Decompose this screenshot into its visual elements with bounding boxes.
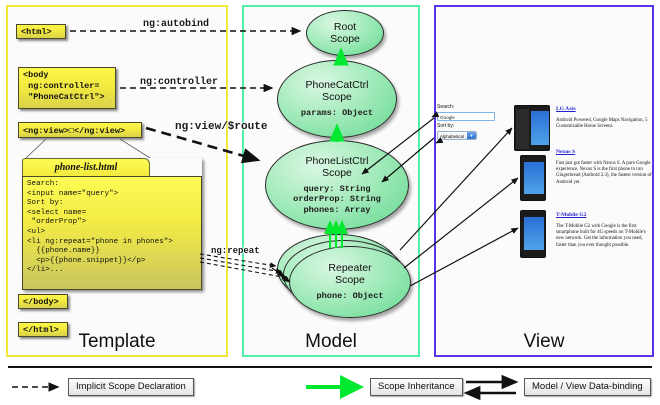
phonelistctrl-scope-props: query: String orderProp: String phones: …: [293, 184, 381, 216]
phone-name-2[interactable]: T-Mobile G2: [556, 212, 586, 218]
ng-autobind-label: ng:autobind: [143, 19, 209, 30]
search-input[interactable]: Google: [437, 112, 495, 121]
phonelistctrl-scope-title: PhoneListCtrl Scope: [305, 155, 368, 179]
phone-list-note-title: phone-list.html: [22, 158, 150, 177]
phonecatctrl-scope-title: PhoneCatCtrl Scope: [305, 79, 368, 103]
search-label: Search:: [437, 104, 454, 110]
legend: Implicit Scope Declaration Scope Inherit…: [0, 364, 660, 405]
root-scope-title: Root Scope: [330, 21, 360, 45]
phone-snippet-1: Fast just got faster with Nexus S. A pur…: [556, 161, 652, 186]
phone-snippet-2: The T-Mobile G2 with Google is the first…: [556, 224, 652, 249]
phone-image-nexus-s: [520, 155, 546, 201]
phone-snippet-0: Android Powered, Google Maps Navigation,…: [556, 118, 652, 130]
ng-view-route-label: ng:view/$route: [175, 121, 267, 133]
repeater-scope: Repeater Scope phone: Object: [289, 246, 411, 318]
sort-select-value: Alphabetical: [440, 134, 464, 139]
phonelistctrl-scope: PhoneListCtrl Scope query: String orderP…: [265, 140, 409, 230]
html-open-tag: <html>: [16, 24, 66, 39]
chevron-down-icon: ▾: [467, 132, 476, 139]
column-label-view: View: [436, 331, 652, 353]
body-open-tag: <body ng:controller= "PhoneCatCtrl">: [18, 67, 116, 109]
html-close-tag: </html>: [18, 322, 68, 337]
phone-name-0[interactable]: LG Axis: [556, 106, 576, 112]
diagram-canvas: Template Model View <html> <body ng:cont…: [0, 0, 660, 405]
legend-label-scope-inheritance: Scope Inheritance: [370, 378, 463, 396]
legend-divider: [8, 366, 652, 368]
phone-list-note-code: Search: <input name="query"> Sort by: <s…: [22, 176, 202, 290]
legend-label-model-view-data-binding: Model / View Data-binding: [524, 378, 651, 396]
body-close-tag: </body>: [18, 294, 68, 309]
phonecatctrl-scope: PhoneCatCtrl Scope params: Object: [277, 60, 397, 138]
phone-image-lg-axis: [514, 105, 550, 151]
phonecatctrl-scope-props: params: Object: [301, 108, 373, 119]
ng-controller-label: ng:controller: [140, 77, 218, 88]
repeater-scope-props: phone: Object: [316, 291, 383, 302]
sort-select[interactable]: Alphabetical ▾: [437, 131, 477, 140]
phone-list-template-note: phone-list.html Search: <input name="que…: [22, 158, 202, 290]
legend-label-implicit-scope-declaration: Implicit Scope Declaration: [68, 378, 194, 396]
phone-image-t-mobile-g2: [520, 210, 546, 258]
sort-label: Sort by:: [437, 123, 454, 129]
ng-view-tag: <ng:view>□</ng:view>: [18, 122, 142, 138]
repeater-scope-title: Repeater Scope: [328, 262, 371, 286]
column-label-model: Model: [244, 331, 418, 353]
root-scope: Root Scope: [306, 10, 384, 56]
ng-repeat-label: ng:repeat: [211, 246, 260, 256]
phone-name-1[interactable]: Nexus S: [556, 149, 575, 155]
